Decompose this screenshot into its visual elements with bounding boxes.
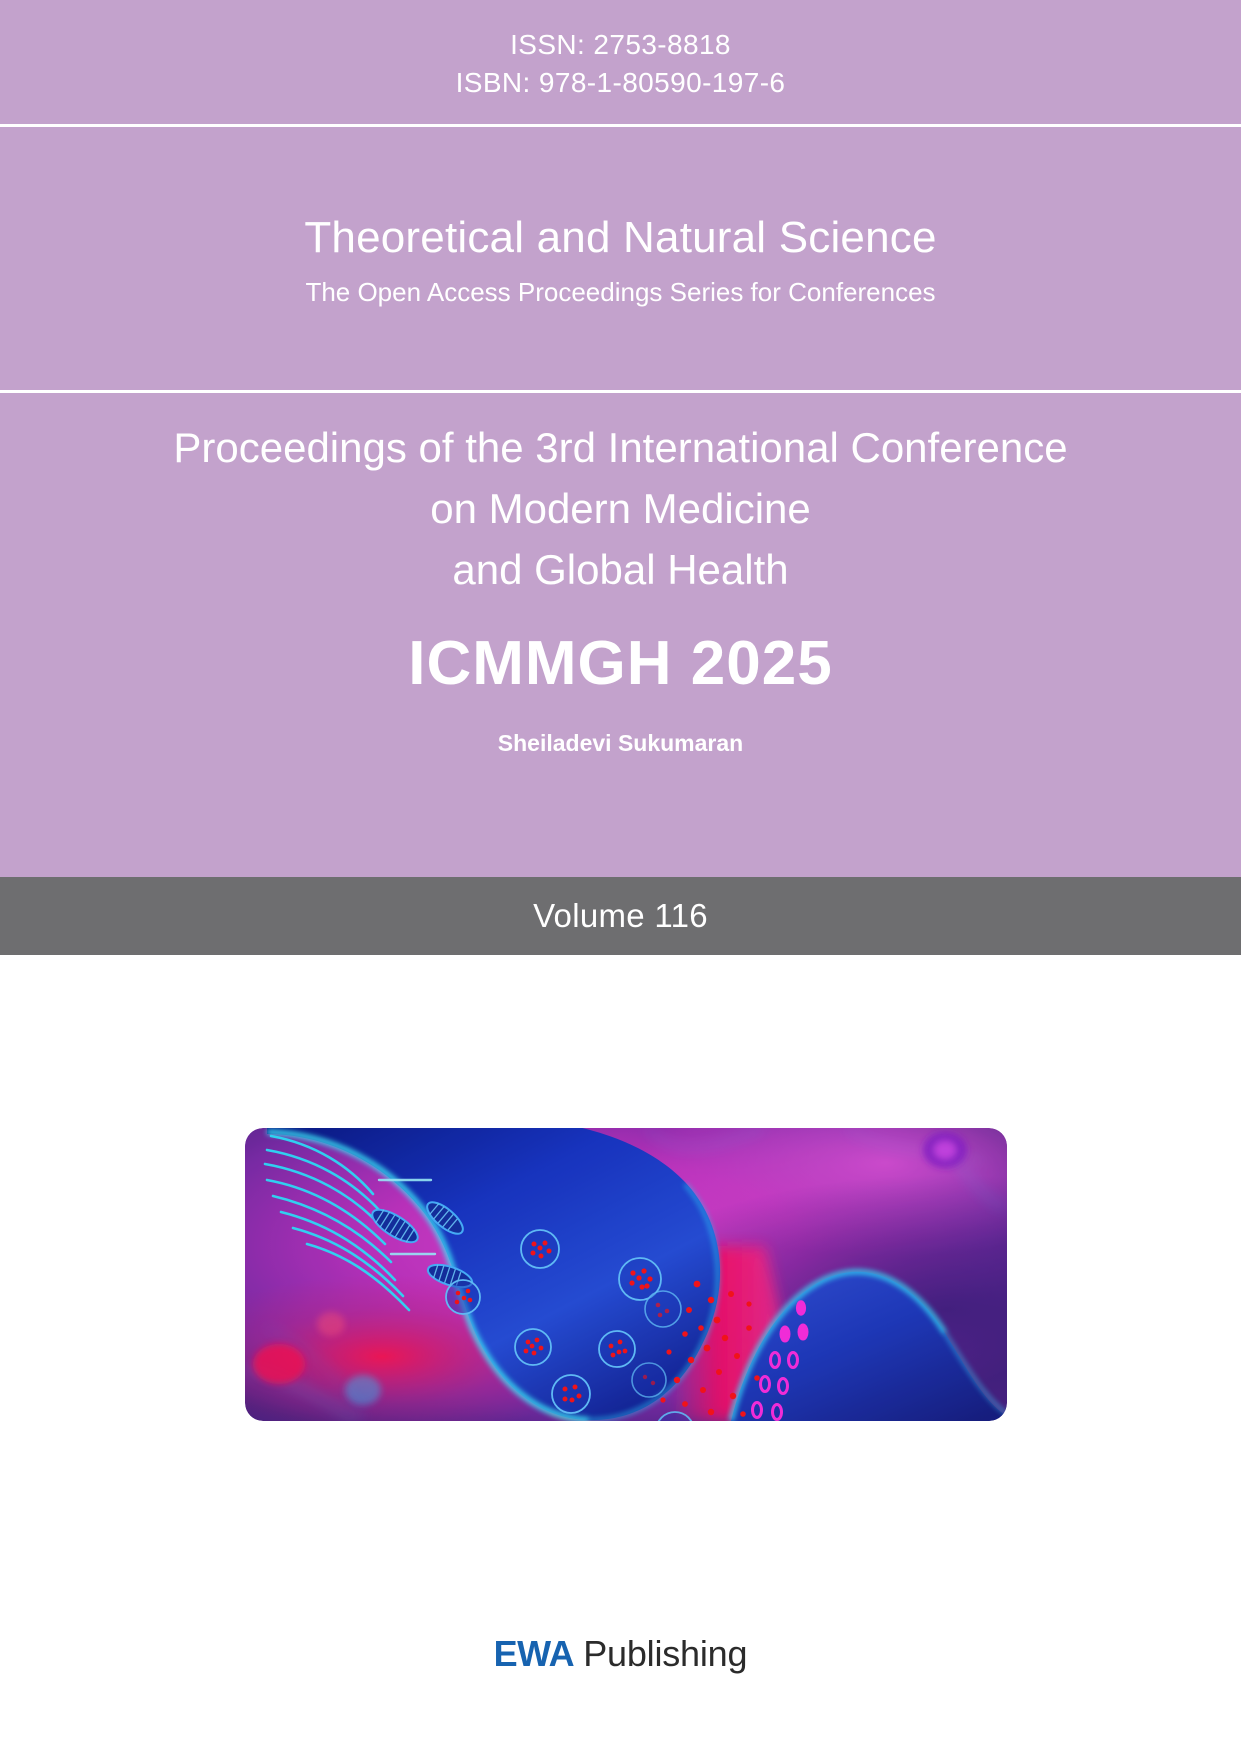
- publisher-name: Publishing: [583, 1633, 747, 1674]
- masthead-purple-panel: ISSN: 2753-8818 ISBN: 978-1-80590-197-6 …: [0, 0, 1241, 877]
- series-band: Theoretical and Natural Science The Open…: [0, 127, 1241, 393]
- conference-title-line-1: Proceedings of the 3rd International Con…: [173, 417, 1067, 478]
- publisher-mark: EWA: [494, 1633, 575, 1674]
- conference-title-line-2: on Modern Medicine: [430, 478, 811, 539]
- book-cover: ISSN: 2753-8818 ISBN: 978-1-80590-197-6 …: [0, 0, 1241, 1754]
- publisher-logo: EWAPublishing: [0, 1633, 1241, 1675]
- synapse-illustration-icon: [245, 1128, 1007, 1421]
- editor-name: Sheiladevi Sukumaran: [498, 728, 743, 758]
- volume-band: Volume 116: [0, 877, 1241, 955]
- cover-artwork: [245, 1128, 1007, 1421]
- volume-label: Volume 116: [533, 896, 708, 936]
- series-title: Theoretical and Natural Science: [304, 210, 936, 266]
- isbn-text: ISBN: 978-1-80590-197-6: [456, 64, 786, 102]
- conference-title-line-3: and Global Health: [452, 539, 788, 600]
- series-subtitle: The Open Access Proceedings Series for C…: [305, 274, 935, 310]
- conference-acronym: ICMMGH 2025: [408, 628, 832, 700]
- identifiers-band: ISSN: 2753-8818 ISBN: 978-1-80590-197-6: [0, 0, 1241, 127]
- issn-text: ISSN: 2753-8818: [510, 26, 731, 64]
- conference-band: Proceedings of the 3rd International Con…: [0, 393, 1241, 877]
